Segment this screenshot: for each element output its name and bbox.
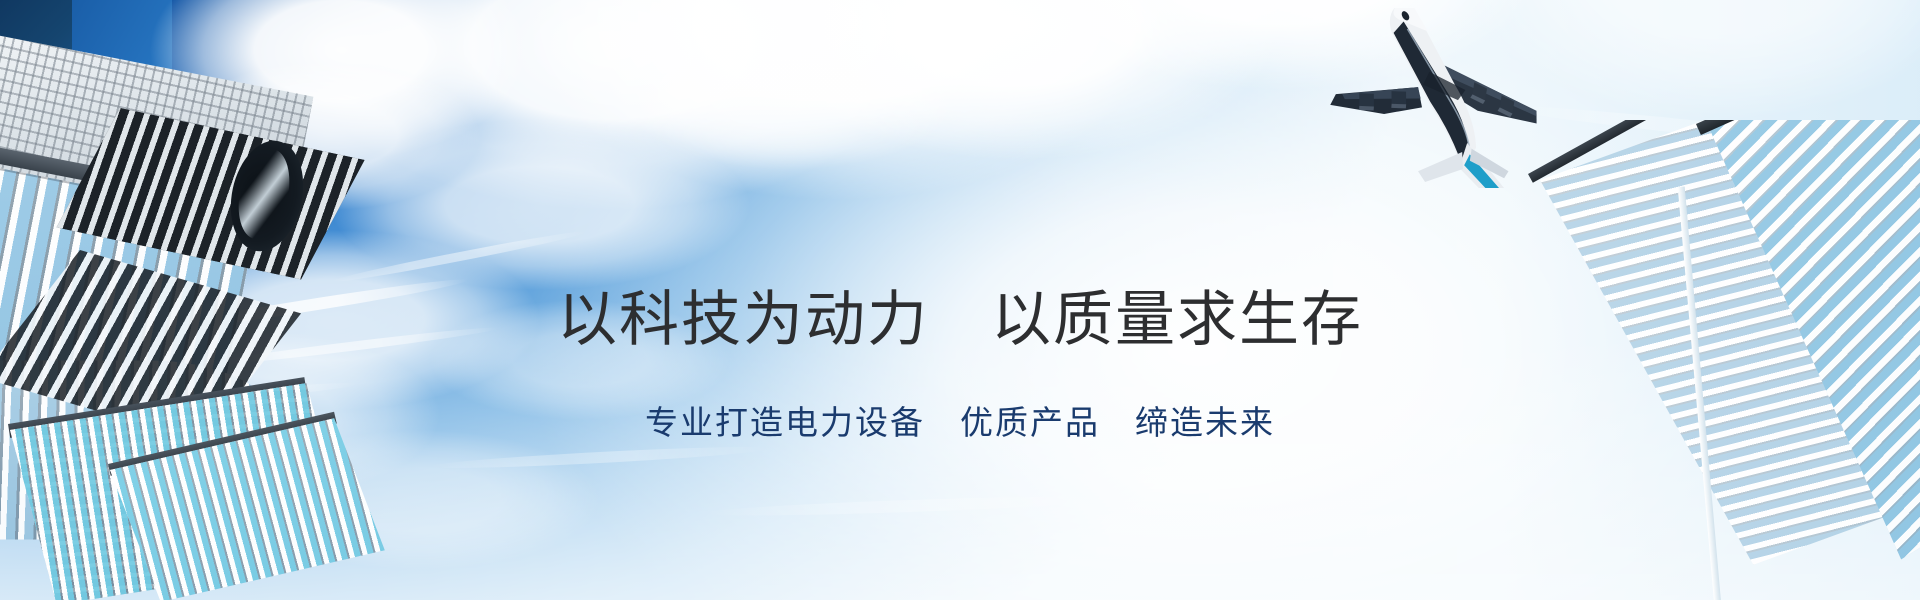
banner-subline: 专业打造电力设备 优质产品 缔造未来 (0, 405, 1920, 441)
airplane-icon (1330, 8, 1560, 188)
banner-copy: 以科技为动力 以质量求生存 专业打造电力设备 优质产品 缔造未来 (0, 288, 1920, 441)
banner-headline: 以科技为动力 以质量求生存 (0, 288, 1920, 353)
airplane (1330, 8, 1560, 188)
hero-banner: 以科技为动力 以质量求生存 专业打造电力设备 优质产品 缔造未来 (0, 0, 1920, 600)
